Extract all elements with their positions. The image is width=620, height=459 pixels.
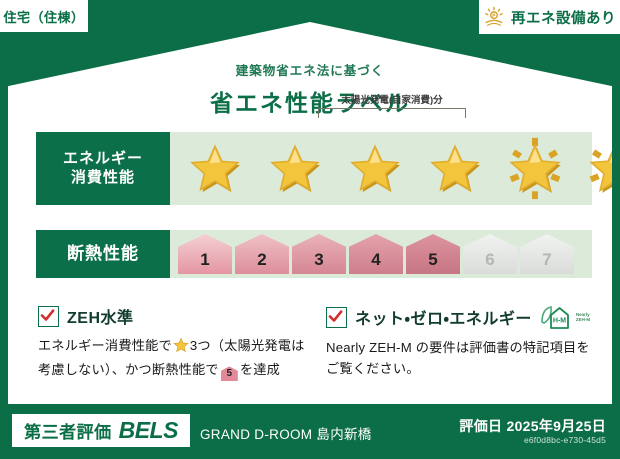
solar-annotation-label: 太陽光発電(自家消費)分 (318, 92, 466, 106)
bels-en-label: BELS (119, 417, 178, 444)
building-type-label: 住宅（住棟） (3, 7, 84, 26)
nze-checkbox-checked-icon (326, 307, 347, 328)
nze-title: ネット・ゼロ・エネルギー (355, 305, 532, 329)
page-title: 省エネ性能ラベル (8, 84, 612, 118)
label-card: 建築物省エネ法に基づく 省エネ性能ラベル エネルギー 消費性能 太陽光発電(自家… (8, 22, 612, 404)
insulation-rating-area: 1234567 (170, 230, 592, 278)
evaluation-id: e6f0d8bc-e730-45d5 (524, 435, 606, 445)
zeh-description: エネルギー消費性能で3つ（太陽光発電は考慮しない）、かつ断熱性能で5を達成 (38, 335, 310, 381)
solar-star-icon (576, 136, 620, 200)
heading-subtitle: 建築物省エネ法に基づく (8, 60, 612, 79)
star-icon (256, 136, 334, 200)
insulation-level-number: 6 (485, 250, 494, 270)
insulation-level-number: 1 (200, 250, 209, 270)
energy-label-line2: 消費性能 (71, 169, 135, 188)
zeh-m-logo-sub2: ZEH-M (576, 317, 590, 322)
zeh-checkbox-checked-icon (38, 306, 59, 327)
zeh-standard-section: ZEH水準 エネルギー消費性能で3つ（太陽光発電は考慮しない）、かつ断熱性能で5… (38, 304, 310, 381)
insulation-level-1: 1 (178, 234, 232, 274)
insulation-level-number: 2 (257, 250, 266, 270)
zeh-heading: ZEH水準 (38, 304, 310, 328)
insulation-performance-label: 断熱性能 (36, 230, 170, 278)
net-zero-energy-section: ネット・ゼロ・エネルギー H-M Nearly ZEH-M Nearly (326, 304, 602, 380)
nze-heading: ネット・ゼロ・エネルギー H-M Nearly ZEH-M (326, 304, 602, 330)
energy-performance-label: エネルギー 消費性能 (36, 132, 170, 205)
star-rating (176, 136, 620, 200)
insulation-level-3: 3 (292, 234, 346, 274)
sun-icon: P (483, 6, 505, 28)
star-icon (176, 136, 254, 200)
insulation-level-number: 7 (542, 250, 551, 270)
insulation-level-7: 7 (520, 234, 574, 274)
zeh-title: ZEH水準 (67, 304, 134, 328)
zeh-inline-level-badge: 5 (221, 366, 238, 381)
energy-label-line1: エネルギー (63, 150, 143, 169)
insulation-performance-row: 断熱性能 1234567 (36, 230, 592, 278)
inline-star-icon (173, 337, 189, 359)
svg-text:P: P (492, 13, 496, 18)
insulation-level-number: 5 (428, 250, 437, 270)
solar-annotation: 太陽光発電(自家消費)分 (318, 92, 466, 118)
insulation-level-5: 5 (406, 234, 460, 274)
zeh-m-logo: H-M Nearly ZEH-M (540, 304, 590, 330)
property-name: GRAND D-ROOM 島内新橋 (200, 423, 372, 443)
insulation-level-number: 3 (314, 250, 323, 270)
solar-bracket (318, 108, 466, 118)
svg-text:H-M: H-M (553, 318, 566, 325)
insulation-label-text: 断熱性能 (67, 243, 139, 264)
zeh-text-part3: を達成 (240, 362, 280, 377)
building-type-badge: 住宅（住棟） (0, 0, 88, 32)
energy-performance-row: エネルギー 消費性能 太陽光発電(自家消費)分 (36, 132, 592, 205)
insulation-level-number: 4 (371, 250, 380, 270)
bels-certification-badge: 第三者評価 BELS (12, 414, 190, 447)
insulation-level-2: 2 (235, 234, 289, 274)
energy-rating-area: 太陽光発電(自家消費)分 (170, 132, 592, 205)
evaluation-date: 評価日 2025年9月25日 (459, 416, 606, 436)
renewable-equipment-badge: P 再エネ設備あり (479, 0, 620, 34)
insulation-level-6: 6 (463, 234, 517, 274)
renewable-label: 再エネ設備あり (511, 7, 616, 28)
solar-star-icon (496, 136, 574, 200)
page-heading: 建築物省エネ法に基づく 省エネ性能ラベル (8, 60, 612, 118)
insulation-level-4: 4 (349, 234, 403, 274)
energy-label-poster: 住宅（住棟） P 再エネ設備あり 建築物省エネ (0, 0, 620, 459)
zeh-text-part1: エネルギー消費性能で (38, 338, 172, 353)
star-icon (336, 136, 414, 200)
footer: 第三者評価 BELS GRAND D-ROOM 島内新橋 評価日 2025年9月… (0, 404, 620, 459)
nze-description: Nearly ZEH-M の要件は評価書の特記項目をご覧ください。 (326, 337, 602, 380)
bels-jp-label: 第三者評価 (24, 418, 112, 443)
star-icon (416, 136, 494, 200)
insulation-level-scale: 1234567 (178, 234, 574, 274)
